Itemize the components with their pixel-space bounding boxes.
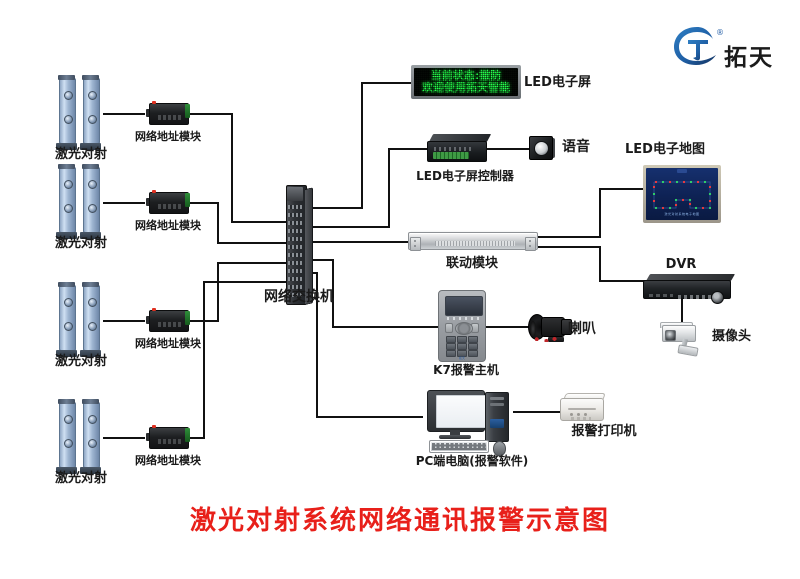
label-laser-detector-4: 激光对射: [31, 472, 131, 486]
wire-branch4-vertical: [203, 281, 205, 439]
label-address-module-4: 网络地址模块: [118, 455, 218, 467]
wire-detector4-module4: [103, 437, 145, 439]
voice-module[interactable]: [529, 136, 555, 160]
network-address-module-3[interactable]: [146, 307, 190, 333]
wire-k7-horn: [486, 326, 530, 328]
wire-switch-k7-h1: [311, 259, 334, 261]
network-address-module-2[interactable]: [146, 189, 190, 215]
wire-branch2-to-switch: [217, 242, 289, 244]
laser-detector-pair-3[interactable]: [59, 285, 103, 357]
wire-switch-pc-h2: [316, 416, 423, 418]
wire-switch-ledctl-h1: [311, 226, 390, 228]
wire-linkage-dvr-h2: [599, 280, 645, 282]
wire-module1-elbow: [189, 113, 233, 115]
brand-name: 拓天: [724, 38, 774, 72]
linkage-module[interactable]: [408, 230, 536, 252]
label-led-map: LED电子地图: [600, 143, 730, 157]
wire-linkage-dvr-h1: [536, 246, 601, 248]
laser-detector-pair-4[interactable]: [59, 402, 103, 474]
wire-switch-ledctl-h2: [388, 148, 428, 150]
label-address-module-3: 网络地址模块: [118, 338, 218, 350]
brand-logo: ® 拓天: [672, 24, 792, 70]
network-address-module-4[interactable]: [146, 424, 190, 450]
alarm-printer[interactable]: [560, 393, 606, 423]
wire-switch-ledscreen-h2: [361, 82, 413, 84]
label-laser-detector-2: 激光对射: [31, 237, 131, 251]
label-dvr: DVR: [636, 258, 726, 272]
pc-tower[interactable]: [485, 392, 509, 442]
label-printer: 报警打印机: [549, 425, 659, 439]
wire-detector2-module2: [103, 202, 145, 204]
wire-detector1-module1: [103, 113, 145, 115]
wire-switch-k7-h2: [332, 326, 438, 328]
wire-switch-ledctl-v: [388, 148, 390, 228]
label-led-controller: LED电子屏控制器: [405, 170, 525, 183]
laser-detector-pair-1[interactable]: [59, 78, 103, 150]
laser-detector-pair-2[interactable]: [59, 167, 103, 239]
network-switch[interactable]: [286, 185, 312, 303]
label-network-switch: 网络交换机: [249, 290, 349, 305]
label-laser-detector-1: 激光对射: [31, 148, 131, 162]
k7-alarm-host[interactable]: 拓天: [438, 290, 486, 362]
label-address-module-2: 网络地址模块: [118, 220, 218, 232]
page-title: 激光对射系统网络通讯报警示意图: [0, 500, 800, 537]
wire-branch1-vertical: [231, 113, 233, 223]
led-display-screen[interactable]: 当前状态:撤防 欢迎使用拓天智能: [411, 65, 521, 99]
wire-switch-ledscreen-v: [361, 82, 363, 209]
wire-switch-linkage: [311, 241, 408, 243]
label-camera: 摄像头: [712, 330, 782, 344]
wire-branch3-vertical: [217, 262, 219, 322]
label-laser-detector-3: 激光对射: [31, 355, 131, 369]
pc-workstation[interactable]: [423, 390, 521, 452]
label-pc: PC端电脑(报警软件): [387, 455, 557, 468]
led-screen-controller[interactable]: [427, 134, 491, 164]
led-map-caption: 激光对射系统电子地图: [664, 212, 699, 216]
wire-ledctl-voice: [487, 148, 529, 150]
wire-branch3-to-switch: [217, 262, 289, 264]
label-horn: 喇叭: [568, 322, 618, 337]
tuotian-swoosh-logo-icon: [672, 24, 722, 68]
diagram-canvas: ® 拓天: [0, 0, 800, 579]
label-address-module-1: 网络地址模块: [118, 131, 218, 143]
wire-branch1-to-switch: [231, 221, 289, 223]
k7-brand-mark: 拓天: [459, 356, 465, 360]
security-camera[interactable]: [654, 322, 710, 356]
wire-linkage-ledmap-h2: [599, 188, 643, 190]
label-led-screen: LED电子屏: [524, 76, 614, 90]
led-screen-line-2: 欢迎使用拓天智能: [422, 82, 510, 94]
wire-switch-ledscreen-h1: [311, 207, 363, 209]
wire-module2-elbow: [189, 202, 219, 204]
wire-detector3-module3: [103, 320, 145, 322]
led-electronic-map[interactable]: 激光对射系统电子地图: [643, 165, 721, 223]
dvr-recorder[interactable]: [643, 274, 735, 300]
monitor[interactable]: [427, 390, 485, 432]
wire-branch4-to-switch: [203, 281, 289, 283]
network-address-module-1[interactable]: [146, 100, 190, 126]
label-linkage-module: 联动模块: [422, 257, 522, 271]
wire-linkage-dvr-v: [599, 246, 601, 282]
wire-linkage-ledmap-h1: [536, 236, 601, 238]
registered-mark: ®: [716, 28, 724, 37]
label-k7-host: K7报警主机: [421, 364, 511, 377]
keyboard[interactable]: [429, 440, 489, 453]
wire-linkage-ledmap-v: [599, 188, 601, 238]
